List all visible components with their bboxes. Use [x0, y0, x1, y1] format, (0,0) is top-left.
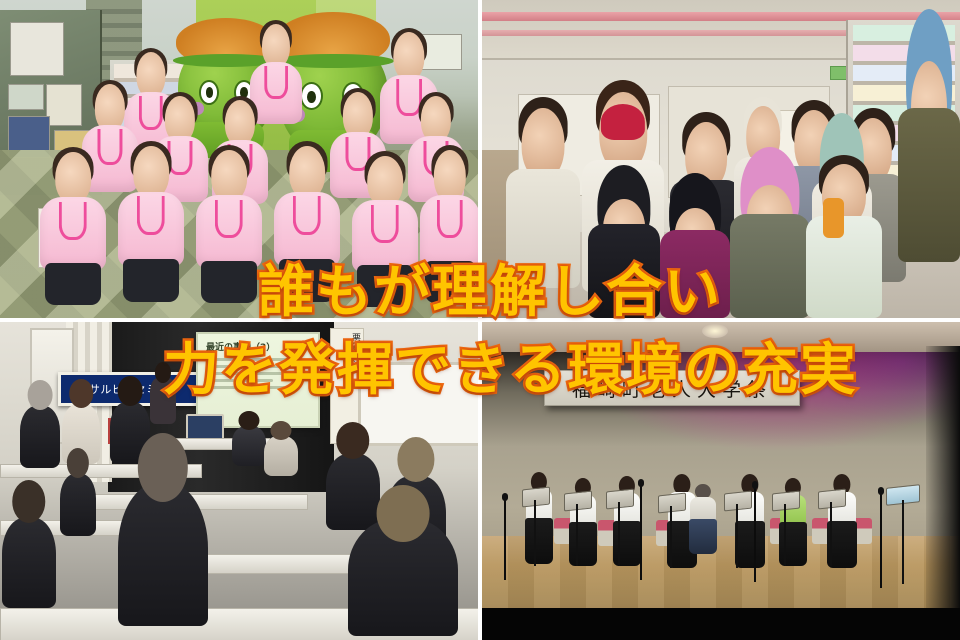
festival-stage-sign: 福崎町老人大学祭: [544, 370, 800, 406]
microphone-stand: [880, 492, 882, 588]
microphone-stand: [754, 486, 756, 582]
music-stand-pole: [534, 500, 536, 566]
person-kneeling: [806, 164, 882, 318]
attendee: [20, 406, 60, 468]
music-stand-pole: [670, 506, 672, 568]
volunteer-person: [196, 150, 262, 268]
microphone-stand: [640, 484, 642, 580]
music-stand-rest: [658, 493, 686, 514]
volunteer-person: [40, 152, 106, 270]
music-stand-rest: [772, 491, 800, 512]
mascot-eye: [300, 82, 323, 110]
photo-panel-bottom-left: 町サルビアセミナー 最近の事例（2） 悪質商法: [0, 322, 478, 640]
volunteer-person: [420, 150, 478, 268]
music-stand-pole: [618, 502, 620, 566]
poster: [10, 22, 64, 76]
attendee: [326, 454, 380, 530]
microphone-stand: [504, 498, 506, 580]
music-stand-pole: [902, 500, 904, 584]
presenter: [150, 378, 176, 424]
music-stand-pole: [576, 504, 578, 566]
person-standing: [506, 108, 580, 288]
person-hijab-kneeling: [588, 176, 660, 318]
photo-panel-bottom-right: 福崎町老人大学祭: [482, 322, 960, 640]
volunteer-person: [274, 146, 340, 266]
music-stand-rest: [606, 489, 634, 510]
attendee-foreground: [348, 518, 458, 636]
photo-panel-top-left: 受付: [0, 0, 478, 318]
poster: [8, 84, 44, 110]
music-stand-rest: [818, 489, 846, 510]
volunteer-person: [118, 146, 184, 266]
photo-collage-poster: 受付: [0, 0, 960, 640]
person-standing: [898, 28, 960, 262]
photo-panel-top-right: [482, 0, 960, 318]
whiteboard: [358, 362, 478, 446]
person-hijab-kneeling: [660, 184, 730, 318]
slide-title: 最近の事例（2）: [206, 340, 310, 353]
performer: [734, 474, 766, 568]
attendee: [2, 518, 56, 608]
attendee: [232, 426, 266, 466]
music-stand-pole: [830, 502, 832, 566]
attendee: [264, 436, 298, 476]
music-stand-rest: [724, 491, 752, 512]
attendee: [60, 474, 96, 536]
music-stand-pole: [736, 504, 738, 568]
attendee-foreground: [118, 482, 208, 626]
ceiling-light: [702, 324, 728, 338]
side-curtain: [926, 346, 960, 636]
music-stand-rest: [564, 491, 592, 512]
music-stand-rest: [522, 487, 550, 508]
music-stand-pole: [784, 504, 786, 566]
person-hijab-kneeling: [730, 160, 810, 318]
performer-seated: [688, 484, 718, 554]
laptop: [186, 414, 224, 440]
volunteer-person: [352, 156, 418, 272]
poster: [46, 84, 82, 126]
stage-front-shadow: [482, 608, 960, 640]
performer: [524, 472, 554, 564]
collage-horizontal-gutter: [0, 318, 960, 322]
